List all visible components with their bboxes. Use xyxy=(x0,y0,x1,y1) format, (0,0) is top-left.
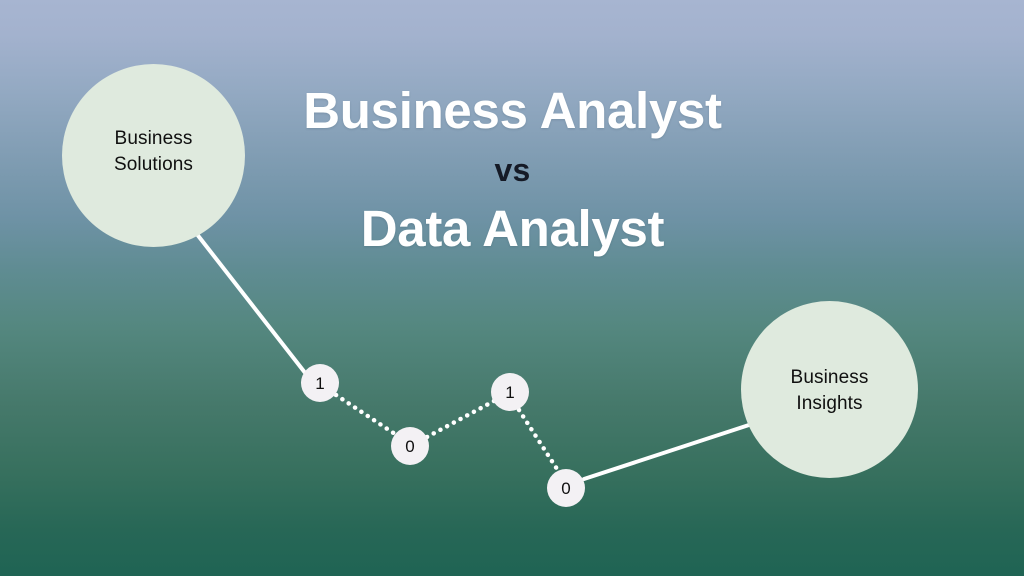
bubble-label-line-2: Solutions xyxy=(114,152,193,177)
edge-node3-to-node4 xyxy=(519,410,557,469)
bubble-label-line-1: Business xyxy=(791,365,869,390)
graph-node-label: 0 xyxy=(405,438,414,455)
bubble-business-solutions-label: Business Solutions xyxy=(114,126,193,176)
slide-title-block: Business Analyst vs Data Analyst xyxy=(240,82,785,257)
graph-node-1[interactable]: 1 xyxy=(301,364,339,402)
graph-node-3[interactable]: 1 xyxy=(491,373,529,411)
edge-node1-to-node2 xyxy=(336,395,395,434)
bubble-label-line-1: Business xyxy=(114,126,193,151)
bubble-business-insights-label: Business Insights xyxy=(791,365,869,415)
graph-node-label: 0 xyxy=(561,480,570,497)
graph-node-2[interactable]: 0 xyxy=(391,427,429,465)
title-separator-vs: vs xyxy=(240,153,785,188)
bubble-label-line-2: Insights xyxy=(791,391,869,416)
edge-node2-to-node3 xyxy=(427,401,494,437)
graph-node-label: 1 xyxy=(505,384,514,401)
slide-canvas: Business Solutions Business Insights Bus… xyxy=(0,0,1024,576)
graph-node-label: 1 xyxy=(315,375,324,392)
edge-node4-to-insights xyxy=(584,424,752,479)
title-line-data-analyst: Data Analyst xyxy=(240,200,785,257)
title-line-business-analyst: Business Analyst xyxy=(240,82,785,139)
bubble-business-insights[interactable]: Business Insights xyxy=(741,301,918,478)
graph-node-4[interactable]: 0 xyxy=(547,469,585,507)
bubble-business-solutions[interactable]: Business Solutions xyxy=(62,64,245,247)
